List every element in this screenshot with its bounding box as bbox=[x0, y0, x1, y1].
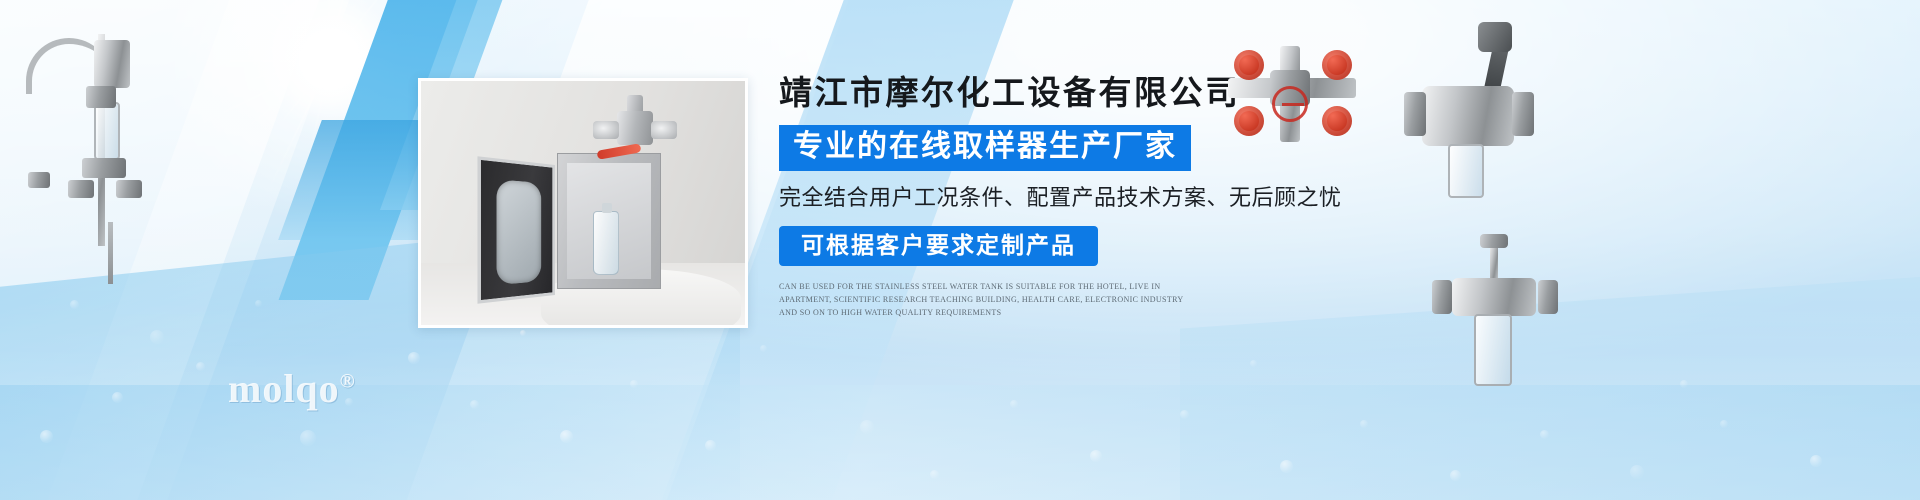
english-blurb: CAN BE USED FOR THE STAINLESS STEEL WATE… bbox=[779, 280, 1199, 319]
sampling-probe-assembly-icon bbox=[12, 24, 162, 284]
headline-highlight: 专业的在线取样器生产厂家 bbox=[779, 125, 1191, 171]
registered-mark-icon: ® bbox=[340, 371, 356, 393]
banner-copy: 靖江市摩尔化工设备有限公司 专业的在线取样器生产厂家 完全结合用户工况条件、配置… bbox=[779, 74, 1419, 319]
product-photo[interactable] bbox=[418, 78, 748, 328]
lever-handle-valve-icon bbox=[1404, 26, 1534, 206]
watermark-text: molqo bbox=[228, 366, 340, 411]
cta-pill[interactable]: 可根据客户要求定制产品 bbox=[779, 226, 1098, 266]
company-title: 靖江市摩尔化工设备有限公司 bbox=[779, 74, 1419, 114]
promo-banner: 靖江市摩尔化工设备有限公司 专业的在线取样器生产厂家 完全结合用户工况条件、配置… bbox=[0, 0, 1920, 500]
watermark-logo: molqo® bbox=[228, 365, 356, 412]
subline: 完全结合用户工况条件、配置产品技术方案、无后顾之忧 bbox=[779, 183, 1419, 213]
